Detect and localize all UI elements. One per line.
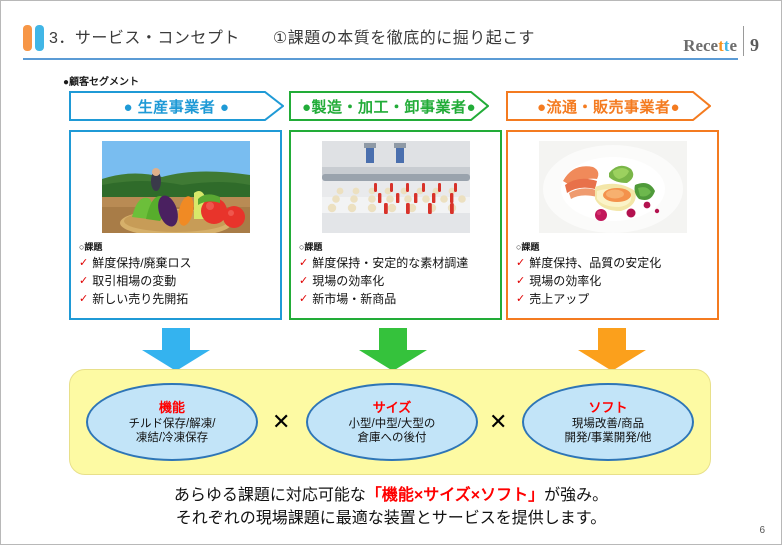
down-arrow-green-icon <box>357 328 429 372</box>
segment-header-label: ●流通・販売事業者● <box>537 96 680 117</box>
title-accent-bars <box>23 25 44 51</box>
issues-list-manufacturer: ○課題 ✓ 鮮度保持・安定的な素材調達 ✓ 現場の効率化 ✓ 新市場・新商品 <box>299 240 494 310</box>
food-factory-conveyor-photo <box>322 141 470 233</box>
issue-item: ✓ 鮮度保持・安定的な素材調達 <box>299 256 494 271</box>
down-arrow-orange-icon <box>576 328 648 372</box>
down-arrow-blue-icon <box>140 328 212 372</box>
solution-panel: 機能 チルド保存/解凍/ 凍結/冷凍保存 ✕ サイズ 小型/中型/大型の 倉庫へ… <box>69 369 711 475</box>
segment-header-label: ● 生産事業者 ● <box>124 96 230 117</box>
segment-card-producer: ○課題 ✓ 鮮度保持/廃棄ロス ✓ 取引相場の変動 ✓ 新しい売り先開拓 <box>69 130 282 320</box>
solution-body: 現場改善/商品 開発/事業開発/他 <box>565 417 652 445</box>
recette-logo: Recette 9 <box>683 21 759 56</box>
issues-heading: ○課題 <box>79 240 274 253</box>
issue-text: 鮮度保持/廃棄ロス <box>92 256 191 271</box>
issue-item: ✓ 新しい売り先開拓 <box>79 292 274 307</box>
issue-item: ✓ 新市場・新商品 <box>299 292 494 307</box>
solution-body: チルド保存/解凍/ 凍結/冷凍保存 <box>129 417 216 445</box>
check-icon: ✓ <box>516 274 525 289</box>
issue-text: 鮮度保持・安定的な素材調達 <box>312 256 468 271</box>
issue-item: ✓ 取引相場の変動 <box>79 274 274 289</box>
issues-heading: ○課題 <box>516 240 711 253</box>
issues-heading: ○課題 <box>299 240 494 253</box>
summary-line-1-highlight: 「機能×サイズ×ソフト」 <box>366 487 544 504</box>
multiply-operator-2: ✕ <box>489 410 507 435</box>
issue-item: ✓ 鮮度保持/廃棄ロス <box>79 256 274 271</box>
issue-text: 売上アップ <box>529 292 589 307</box>
segment-header-manufacturer: ●製造・加工・卸事業者● <box>289 91 489 121</box>
check-icon: ✓ <box>79 256 88 271</box>
accent-bar-orange <box>23 25 32 51</box>
solution-body: 小型/中型/大型の 倉庫への後付 <box>349 417 436 445</box>
issue-text: 現場の効率化 <box>529 274 601 289</box>
title-underline-rule <box>23 58 738 60</box>
segment-header-label: ●製造・加工・卸事業者● <box>302 96 476 117</box>
issue-text: 取引相場の変動 <box>92 274 176 289</box>
logo-text-a: Rece <box>683 36 718 56</box>
slide-header: 3．サービス・コンセプト ①課題の本質を徹底的に掘り起こす Recette 9 <box>23 19 761 63</box>
issue-text: 新市場・新商品 <box>312 292 396 307</box>
check-icon: ✓ <box>299 274 308 289</box>
logo-divider <box>743 26 744 56</box>
issue-item: ✓ 現場の効率化 <box>516 274 711 289</box>
summary-line-1: あらゆる課題に対応可能な「機能×サイズ×ソフト」が強み。 <box>1 484 781 507</box>
check-icon: ✓ <box>516 256 525 271</box>
summary-line-2: それぞれの現場課題に最適な装置とサービスを提供します。 <box>1 507 781 530</box>
multiply-operator-1: ✕ <box>272 410 290 435</box>
check-icon: ✓ <box>516 292 525 307</box>
vegetables-basket-photo <box>102 141 250 233</box>
page-number: 6 <box>759 525 765 536</box>
solution-title: 機能 <box>159 400 185 416</box>
accent-bar-blue <box>35 25 44 51</box>
issues-list-distributor: ○課題 ✓ 鮮度保持、品質の安定化 ✓ 現場の効率化 ✓ 売上アップ <box>516 240 711 310</box>
check-icon: ✓ <box>79 292 88 307</box>
solution-ellipse-size: サイズ 小型/中型/大型の 倉庫への後付 <box>306 383 478 461</box>
customer-segment-label: ●顧客セグメント <box>63 73 139 88</box>
issues-list-producer: ○課題 ✓ 鮮度保持/廃棄ロス ✓ 取引相場の変動 ✓ 新しい売り先開拓 <box>79 240 274 310</box>
summary-text: あらゆる課題に対応可能な「機能×サイズ×ソフト」が強み。 それぞれの現場課題に最… <box>1 484 781 530</box>
issue-text: 現場の効率化 <box>312 274 384 289</box>
issue-item: ✓ 鮮度保持、品質の安定化 <box>516 256 711 271</box>
issue-item: ✓ 現場の効率化 <box>299 274 494 289</box>
check-icon: ✓ <box>299 292 308 307</box>
logo-text-e: e <box>729 36 737 56</box>
summary-line-1-post: が強み。 <box>544 487 608 504</box>
summary-line-1-pre: あらゆる課題に対応可能な <box>174 487 366 504</box>
slide-canvas: 3．サービス・コンセプト ①課題の本質を徹底的に掘り起こす Recette 9 … <box>0 0 782 545</box>
segment-header-distributor: ●流通・販売事業者● <box>506 91 711 121</box>
issue-item: ✓ 売上アップ <box>516 292 711 307</box>
segment-card-manufacturer: ○課題 ✓ 鮮度保持・安定的な素材調達 ✓ 現場の効率化 ✓ 新市場・新商品 <box>289 130 502 320</box>
segment-card-distributor: ○課題 ✓ 鮮度保持、品質の安定化 ✓ 現場の効率化 ✓ 売上アップ <box>506 130 719 320</box>
solution-ellipse-function: 機能 チルド保存/解凍/ 凍結/冷凍保存 <box>86 383 258 461</box>
solution-ellipse-software: ソフト 現場改善/商品 開発/事業開発/他 <box>522 383 694 461</box>
logo-number: 9 <box>750 35 759 56</box>
segment-header-producer: ● 生産事業者 ● <box>69 91 284 121</box>
solution-title: ソフト <box>588 400 627 416</box>
issue-text: 鮮度保持、品質の安定化 <box>529 256 661 271</box>
issue-text: 新しい売り先開拓 <box>92 292 188 307</box>
check-icon: ✓ <box>79 274 88 289</box>
check-icon: ✓ <box>299 256 308 271</box>
solution-title: サイズ <box>373 400 412 416</box>
page-title: 3．サービス・コンセプト ①課題の本質を徹底的に掘り起こす <box>49 24 535 48</box>
plated-gourmet-dish-photo <box>539 141 687 233</box>
